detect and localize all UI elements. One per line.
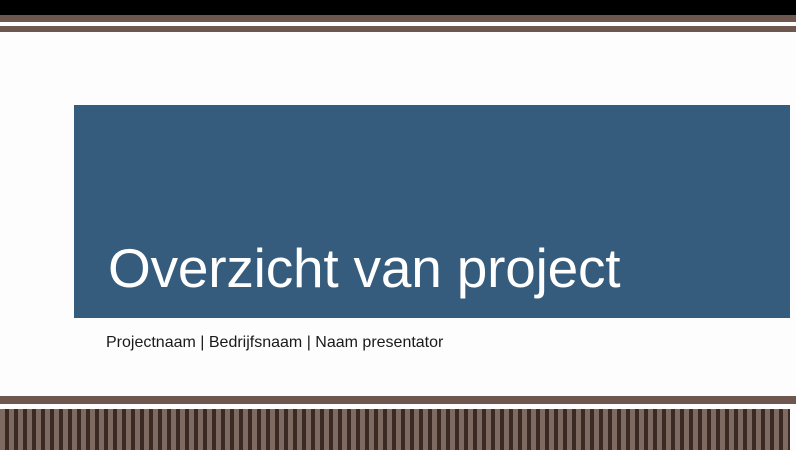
top-brown-band-upper xyxy=(0,15,796,22)
slide-subtitle[interactable]: Projectnaam | Bedrijfsnaam | Naam presen… xyxy=(106,333,443,352)
presentation-slide: Overzicht van project Projectnaam | Bedr… xyxy=(0,0,796,450)
bottom-right-margin xyxy=(790,409,796,450)
bottom-stripe-band xyxy=(0,409,790,450)
top-brown-band-lower xyxy=(0,26,796,32)
slide-title[interactable]: Overzicht van project xyxy=(108,240,620,298)
top-black-band xyxy=(0,0,796,15)
title-panel: Overzicht van project xyxy=(74,105,790,318)
bottom-brown-band xyxy=(0,396,796,404)
